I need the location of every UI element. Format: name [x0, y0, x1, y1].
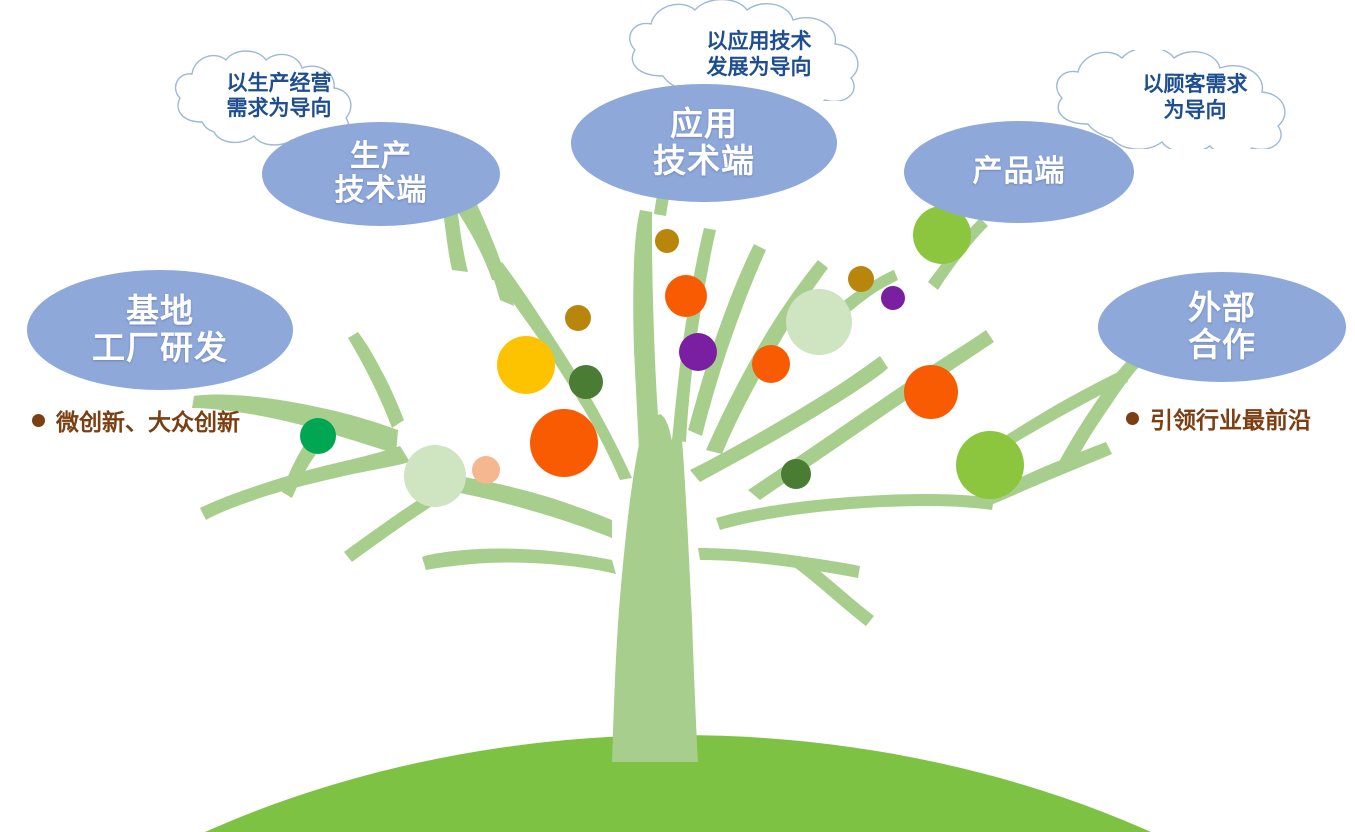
fruit-yellow: [497, 336, 555, 394]
fruit-gold-small-mid: [565, 305, 591, 331]
fruit-brightgreen-low: [956, 431, 1024, 499]
branch-left-upper: [348, 332, 404, 428]
node-label: 应用 技术端: [653, 106, 755, 180]
tree-trunk-base: [612, 440, 698, 762]
node-label: 生产 技术端: [335, 140, 428, 207]
fruit-peach-left: [472, 456, 500, 484]
fruit-darkgreen-mid: [569, 365, 603, 399]
fruit-green-left: [300, 418, 336, 454]
node-label: 外部 合作: [1188, 290, 1256, 364]
node-external-cooperation[interactable]: 外部 合作: [1098, 272, 1346, 382]
branch-left-lower-2: [422, 549, 616, 575]
fruit-palegreen-right: [786, 289, 852, 355]
node-label: 基地 工厂研发: [92, 293, 228, 367]
fruit-orange-big: [530, 409, 598, 477]
note-text: 微创新、大众创新: [56, 403, 240, 437]
node-base-factory-rd[interactable]: 基地 工厂研发: [27, 270, 293, 390]
fruit-orange-right-big: [904, 365, 958, 419]
branch-right-long-lower: [716, 494, 994, 530]
node-product-end[interactable]: 产品端: [904, 121, 1134, 223]
fruit-purple-right: [881, 286, 905, 310]
node-label: 产品端: [973, 155, 1066, 189]
bullet-dot-icon: [32, 414, 45, 427]
node-production-technology[interactable]: 生产 技术端: [262, 122, 500, 226]
fruit-gold-right: [848, 266, 874, 292]
note-micro-innovation: 微创新、大众创新: [32, 403, 240, 437]
fruit-darkgreen-right: [781, 459, 811, 489]
diagram-canvas: 以生产经营 需求为导向 以应用技术 发展为导向 以顾客需求 为导向 基地 工厂研…: [0, 0, 1355, 832]
fruit-gold-top: [655, 229, 679, 253]
note-text: 引领行业最前沿: [1150, 401, 1311, 435]
node-application-technology[interactable]: 应用 技术端: [571, 84, 837, 202]
branch-right-lower-fork: [698, 548, 860, 578]
fruit-purple-upper: [679, 333, 717, 371]
note-industry-frontier: 引领行业最前沿: [1126, 401, 1311, 435]
bullet-dot-icon: [1126, 412, 1139, 425]
fruit-orange-upper: [665, 275, 707, 317]
fruit-palegreen-left: [404, 445, 466, 507]
fruit-orange-mid-right: [752, 345, 790, 383]
branch-upper-left-fork-2: [462, 194, 514, 306]
